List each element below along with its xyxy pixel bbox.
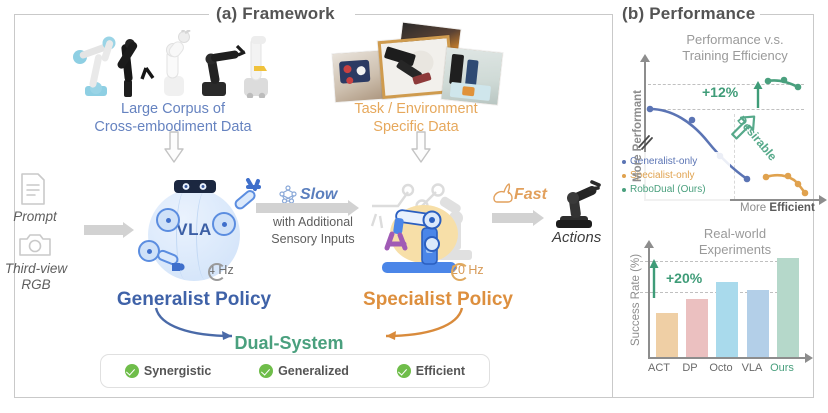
rgb-label-line1: Third-view bbox=[0, 261, 74, 277]
bar-plot-area bbox=[648, 246, 808, 357]
panel-a-title: (a) Framework bbox=[216, 4, 335, 24]
gain-20-label: +20% bbox=[666, 270, 702, 286]
frame-top-left-rule bbox=[14, 14, 209, 15]
check-circle-icon bbox=[125, 364, 139, 378]
frame-top-mid-rule bbox=[355, 14, 612, 15]
bar-octo bbox=[716, 282, 738, 357]
bar-chart-title-line1: Real-world bbox=[670, 226, 800, 242]
camera-icon bbox=[18, 232, 52, 258]
loop-icon bbox=[208, 263, 226, 281]
bar-tick-octo: Octo bbox=[704, 362, 738, 374]
bar-tick-vla: VLA bbox=[736, 362, 768, 374]
prompt-label: Prompt bbox=[4, 209, 66, 225]
legend-dot bbox=[622, 188, 626, 192]
dual-system-title: Dual-System bbox=[215, 333, 363, 355]
task-caption-line1: Task / Environment bbox=[333, 101, 499, 119]
check-circle-icon bbox=[397, 364, 411, 378]
bar-chart-x-axis bbox=[648, 357, 808, 359]
rabbit-icon bbox=[492, 182, 516, 204]
down-arrow-right bbox=[410, 131, 432, 163]
x-label-bold: Efficient bbox=[769, 202, 814, 214]
arrow-specialist-to-actions bbox=[492, 210, 544, 226]
corpus-caption-line1: Large Corpus of bbox=[88, 101, 258, 119]
loop-icon bbox=[451, 263, 469, 281]
dual-system-badge-bar: Synergistic Generalized Efficient bbox=[100, 354, 490, 388]
line-chart-x-label: More Efficient bbox=[740, 202, 815, 214]
line-chart-y-label: More Performant bbox=[632, 90, 644, 182]
badge-generalized: Generalized bbox=[259, 364, 349, 378]
robot-arm-collage bbox=[72, 30, 268, 98]
slow-sub-line1: with Additional bbox=[256, 214, 370, 231]
legend-label: RoboDual (Ours) bbox=[630, 183, 706, 197]
specialist-rate: 20 Hz bbox=[451, 263, 484, 277]
rgb-label-line2: RGB bbox=[0, 277, 74, 293]
check-circle-icon bbox=[259, 364, 273, 378]
bar-vla bbox=[747, 290, 769, 357]
x-label-prefix: More bbox=[740, 202, 769, 214]
bar-act bbox=[656, 313, 678, 357]
legend-dot bbox=[622, 160, 626, 164]
badge-label: Synergistic bbox=[144, 364, 211, 378]
bar-tick-ours: Ours bbox=[766, 362, 798, 374]
bar-tick-act: ACT bbox=[644, 362, 674, 374]
realworld-bar-chart: Real-world Experiments ACT DP Octo VLA O… bbox=[616, 224, 822, 390]
figure-root: (a) Framework (b) Performance bbox=[0, 0, 828, 413]
badge-label: Efficient bbox=[416, 364, 465, 378]
task-photo-3 bbox=[441, 47, 502, 105]
bar-tick-dp: DP bbox=[675, 362, 705, 374]
frame-top-right-rule bbox=[760, 14, 814, 15]
legend-dot bbox=[622, 174, 626, 178]
panel-divider bbox=[612, 14, 613, 398]
slow-sub-line2: Sensory Inputs bbox=[256, 231, 370, 248]
bar-ours bbox=[777, 258, 799, 357]
slow-sublabel: with Additional Sensory Inputs bbox=[256, 214, 370, 248]
third-view-rgb-label: Third-view RGB bbox=[0, 261, 74, 294]
robot-left-gripper bbox=[150, 245, 186, 275]
gain-12-label: +12% bbox=[702, 84, 738, 100]
actions-robot-arm-icon bbox=[540, 176, 604, 230]
document-icon bbox=[18, 172, 48, 206]
bar-dp bbox=[686, 299, 708, 357]
badge-efficient: Efficient bbox=[397, 364, 465, 378]
badge-label: Generalized bbox=[278, 364, 349, 378]
down-arrow-left bbox=[163, 131, 185, 163]
robot-camera-head bbox=[173, 178, 217, 196]
arrow-inputs-to-generalist bbox=[84, 222, 134, 238]
arrow-specialist-to-dual bbox=[368, 306, 468, 342]
actions-label: Actions bbox=[552, 229, 601, 246]
panel-b-title: (b) Performance bbox=[622, 4, 755, 24]
robot-joint-right bbox=[212, 212, 236, 236]
performance-line-chart: Performance v.s. Training Efficiency bbox=[616, 30, 822, 210]
legend-item-robodual: RoboDual (Ours) bbox=[622, 183, 726, 197]
bar-chart-y-label: Success Rate (%) bbox=[630, 254, 642, 346]
generalist-rate: 4 Hz bbox=[208, 263, 234, 277]
robot-joint-upper-left bbox=[156, 208, 180, 232]
badge-synergistic: Synergistic bbox=[125, 364, 211, 378]
